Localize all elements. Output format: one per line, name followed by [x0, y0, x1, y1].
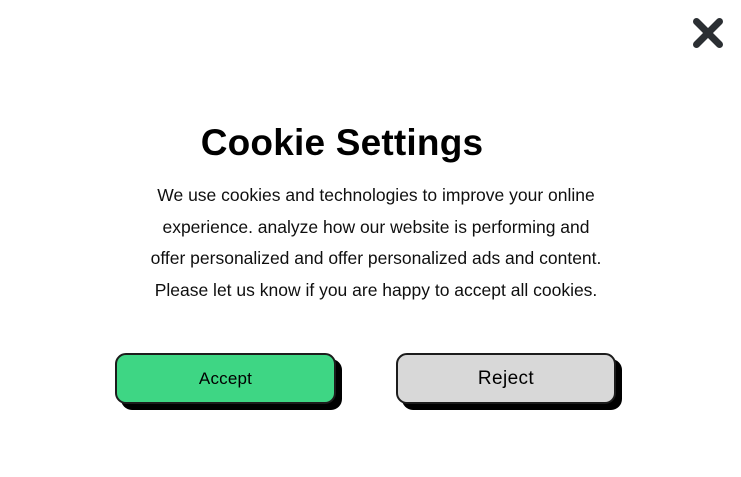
- dialog-title: Cookie Settings: [0, 121, 684, 165]
- accept-button[interactable]: Accept: [115, 353, 336, 404]
- description-line: experience. analyze how our website is p…: [0, 212, 741, 244]
- close-icon: [693, 18, 723, 48]
- close-button[interactable]: [686, 11, 730, 55]
- description-line: offer personalized and offer personalize…: [0, 243, 741, 275]
- cookie-consent-dialog: Cookie Settings We use cookies and techn…: [0, 0, 741, 477]
- dialog-actions: Accept Reject: [0, 353, 741, 411]
- dialog-description: We use cookies and technologies to impro…: [0, 180, 741, 306]
- description-line: We use cookies and technologies to impro…: [0, 180, 741, 212]
- reject-button[interactable]: Reject: [396, 353, 616, 404]
- description-line: Please let us know if you are happy to a…: [0, 275, 741, 307]
